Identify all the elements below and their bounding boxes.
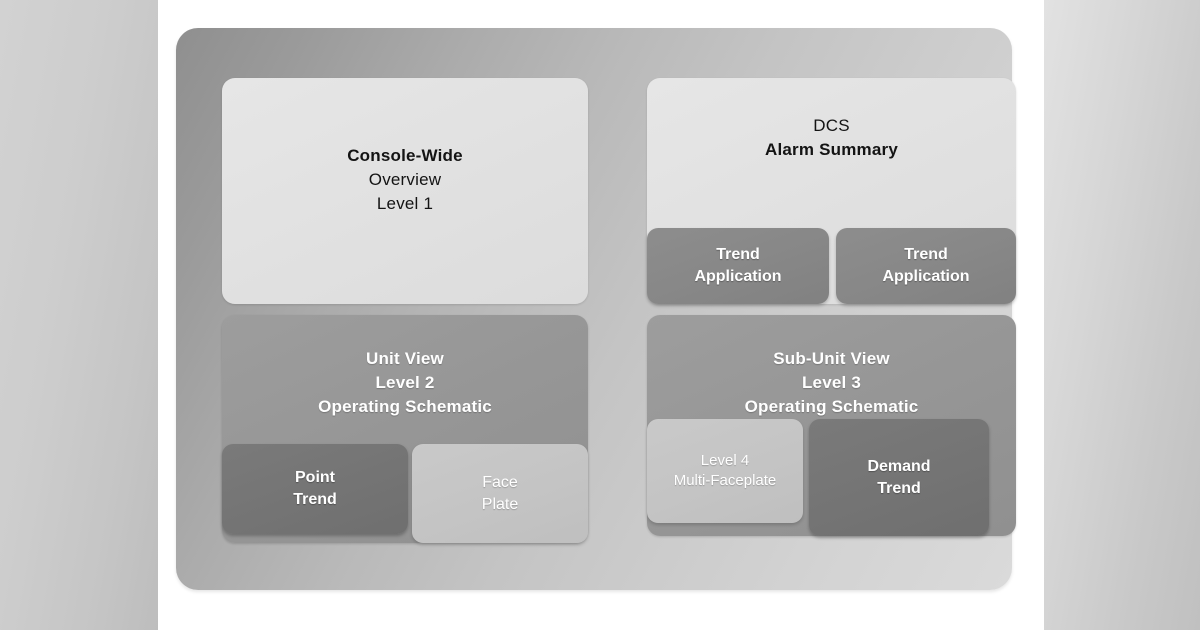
box-trend-application-1[interactable]: Trend Application — [647, 228, 829, 304]
panel-grid: Console-Wide Overview Level 1 DCS Alarm … — [222, 78, 970, 556]
dcs-alarm-summary-title: DCS Alarm Summary — [647, 114, 1016, 162]
box-face-plate[interactable]: Face Plate — [412, 444, 588, 543]
box-point-trend[interactable]: Point Trend — [222, 444, 408, 534]
box-trend-application-2[interactable]: Trend Application — [836, 228, 1016, 304]
left-background-band — [0, 0, 158, 630]
right-background-band — [1044, 0, 1200, 630]
trend-application-2-label: Trend Application — [882, 244, 969, 287]
panel-console-wide-overview[interactable]: Console-Wide Overview Level 1 — [222, 78, 588, 304]
dcs-alarm-summary-line-2: Alarm Summary — [647, 138, 1016, 162]
console-wide-overview-line-1: Console-Wide — [222, 144, 588, 168]
diagram-canvas: Console-Wide Overview Level 1 DCS Alarm … — [0, 0, 1200, 630]
point-trend-label: Point Trend — [293, 467, 337, 510]
demand-trend-line-2: Trend — [867, 478, 930, 500]
demand-trend-label: Demand Trend — [867, 456, 930, 499]
face-plate-label: Face Plate — [482, 472, 518, 515]
box-demand-trend[interactable]: Demand Trend — [809, 419, 989, 536]
console-wide-overview-line-3: Level 1 — [222, 192, 588, 216]
box-level-4-multi-faceplate[interactable]: Level 4 Multi-Faceplate — [647, 419, 803, 523]
trend-application-2-line-2: Application — [882, 266, 969, 288]
point-trend-line-2: Trend — [293, 489, 337, 511]
unit-view-line-1: Unit View — [222, 347, 588, 371]
point-trend-line-1: Point — [293, 467, 337, 489]
level-4-multi-faceplate-line-2: Multi-Faceplate — [674, 471, 777, 491]
trend-application-2-line-1: Trend — [882, 244, 969, 266]
face-plate-line-1: Face — [482, 472, 518, 494]
diagram-outer-frame: Console-Wide Overview Level 1 DCS Alarm … — [176, 28, 1012, 590]
sub-unit-view-title: Sub-Unit View Level 3 Operating Schemati… — [647, 347, 1016, 419]
trend-application-1-label: Trend Application — [694, 244, 781, 287]
level-4-multi-faceplate-label: Level 4 Multi-Faceplate — [674, 451, 777, 492]
unit-view-line-3: Operating Schematic — [222, 395, 588, 419]
dcs-alarm-summary-line-1: DCS — [647, 114, 1016, 138]
sub-unit-view-line-3: Operating Schematic — [647, 395, 1016, 419]
unit-view-title: Unit View Level 2 Operating Schematic — [222, 347, 588, 419]
trend-application-1-line-2: Application — [694, 266, 781, 288]
level-4-multi-faceplate-line-1: Level 4 — [674, 451, 777, 471]
console-wide-overview-line-2: Overview — [222, 168, 588, 192]
demand-trend-line-1: Demand — [867, 456, 930, 478]
trend-application-1-line-1: Trend — [694, 244, 781, 266]
console-wide-overview-title: Console-Wide Overview Level 1 — [222, 144, 588, 216]
sub-unit-view-line-1: Sub-Unit View — [647, 347, 1016, 371]
sub-unit-view-line-2: Level 3 — [647, 371, 1016, 395]
face-plate-line-2: Plate — [482, 494, 518, 516]
unit-view-line-2: Level 2 — [222, 371, 588, 395]
